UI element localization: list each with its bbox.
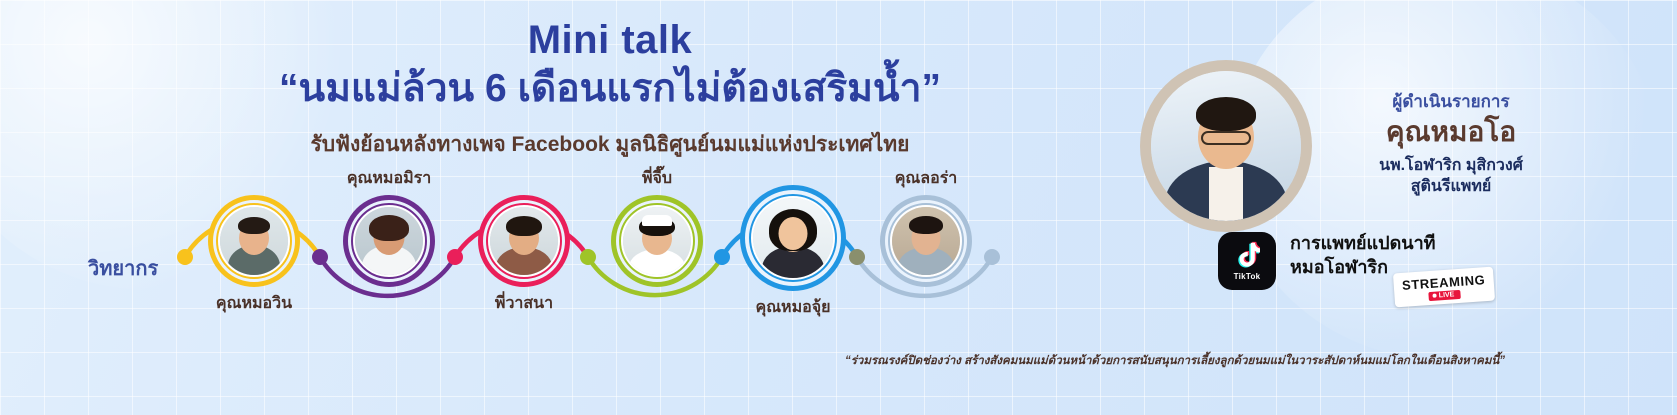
speaker-caption-4: พี่จี๊บ <box>642 166 672 191</box>
speaker-avatar-2 <box>355 207 423 275</box>
speaker-caption-3: พี่วาสนา <box>495 291 553 316</box>
host-avatar[interactable] <box>1140 60 1312 232</box>
speaker-ring-inner-4 <box>619 203 695 279</box>
speaker-node-1[interactable]: คุณหมอวิน <box>208 195 300 287</box>
tiktok-note-glyph <box>1234 241 1260 271</box>
speaker-node-3[interactable]: พี่วาสนา <box>478 195 570 287</box>
tiktok-icon[interactable]: TikTok <box>1218 232 1276 290</box>
speaker-node-4[interactable]: พี่จี๊บ <box>611 195 703 287</box>
streaming-badge[interactable]: STREAMING LIVE <box>1393 267 1495 308</box>
footer-note: “ร่วมรณรงค์ปิดช่องว่าง สร้างสังคมนมแม่ด้… <box>845 352 1665 370</box>
speaker-avatar-6 <box>892 207 960 275</box>
speaker-avatar-3 <box>490 207 558 275</box>
speaker-node-2[interactable]: คุณหมอมิรา <box>343 195 435 287</box>
speaker-ring-3 <box>478 195 570 287</box>
live-dot-icon <box>1433 294 1437 298</box>
live-label: LIVE <box>1439 291 1455 299</box>
speaker-ring-1 <box>208 195 300 287</box>
speaker-ring-4 <box>611 195 703 287</box>
live-badge: LIVE <box>1429 289 1461 300</box>
speaker-caption-1: คุณหมอวิน <box>216 291 292 316</box>
page-title: Mini talk <box>180 18 1040 63</box>
speaker-ring-inner-1 <box>216 203 292 279</box>
host-avatar-image <box>1151 71 1301 221</box>
speaker-node-6[interactable]: คุณลอร่า <box>880 195 972 287</box>
host-info: ผู้ดำเนินรายการ คุณหมอโอ นพ.โอฬาริก มุสิ… <box>1326 88 1576 198</box>
subtitle: รับฟังย้อนหลังทางเพจ Facebook มูลนิธิศูน… <box>180 128 1040 161</box>
speaker-ring-inner-5 <box>749 194 837 282</box>
speaker-ring-inner-6 <box>888 203 964 279</box>
promo-banner: Mini talk “นมแม่ล้วน 6 เดือนแรกไม่ต้องเส… <box>0 0 1677 415</box>
streaming-label: STREAMING <box>1402 272 1486 293</box>
title-quote: “นมแม่ล้วน 6 เดือนแรกไม่ต้องเสริมน้ำ” <box>180 65 1040 114</box>
speaker-ring-inner-3 <box>486 203 562 279</box>
speaker-avatar-5 <box>753 198 833 278</box>
speaker-ring-5 <box>740 185 846 291</box>
speaker-avatar-4 <box>623 207 691 275</box>
speaker-ring-inner-2 <box>351 203 427 279</box>
speaker-ring-6 <box>880 195 972 287</box>
speaker-ring-2 <box>343 195 435 287</box>
host-role: ผู้ดำเนินรายการ <box>1326 88 1576 115</box>
speaker-avatar-1 <box>220 207 288 275</box>
speaker-node-5[interactable]: คุณหมอจุ้ย <box>740 185 846 291</box>
speaker-caption-2: คุณหมอมิรา <box>347 166 431 191</box>
headline-block: Mini talk “นมแม่ล้วน 6 เดือนแรกไม่ต้องเส… <box>180 18 1040 161</box>
speakers-rail: วิทยากร <box>0 175 1050 350</box>
channel-name-line1: การแพทย์แปดนาที <box>1290 232 1436 256</box>
host-specialty: สูตินรีแพทย์ <box>1326 176 1576 198</box>
speaker-caption-6: คุณลอร่า <box>895 166 958 191</box>
speaker-caption-5: คุณหมอจุ้ย <box>756 295 831 320</box>
host-nickname: คุณหมอโอ <box>1326 117 1576 148</box>
host-full-name: นพ.โอฬาริก มุสิกวงศ์ <box>1326 155 1576 177</box>
tiktok-wordmark: TikTok <box>1234 272 1261 281</box>
